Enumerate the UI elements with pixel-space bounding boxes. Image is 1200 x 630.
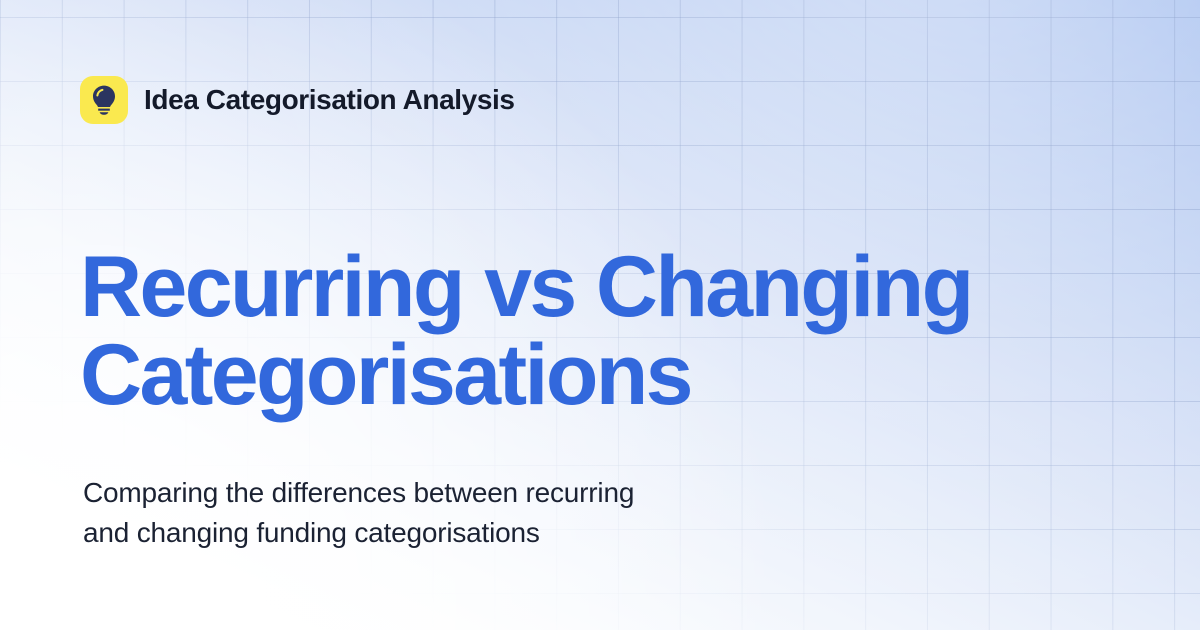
brand-row: Idea Categorisation Analysis [80,76,515,124]
headline-line-1: Recurring vs Changing [80,243,1140,331]
lightbulb-icon [91,85,117,115]
headline-line-2: Categorisations [80,331,1140,419]
subtitle-line-1: Comparing the differences between recurr… [83,473,983,513]
card-content: Idea Categorisation Analysis Recurring v… [0,0,1200,630]
subtitle-line-2: and changing funding categorisations [83,513,983,553]
page-title: Recurring vs Changing Categorisations [80,243,1140,419]
hero-card: Idea Categorisation Analysis Recurring v… [0,0,1200,630]
brand-badge [80,76,128,124]
brand-title: Idea Categorisation Analysis [144,86,515,114]
page-subtitle: Comparing the differences between recurr… [83,473,983,553]
